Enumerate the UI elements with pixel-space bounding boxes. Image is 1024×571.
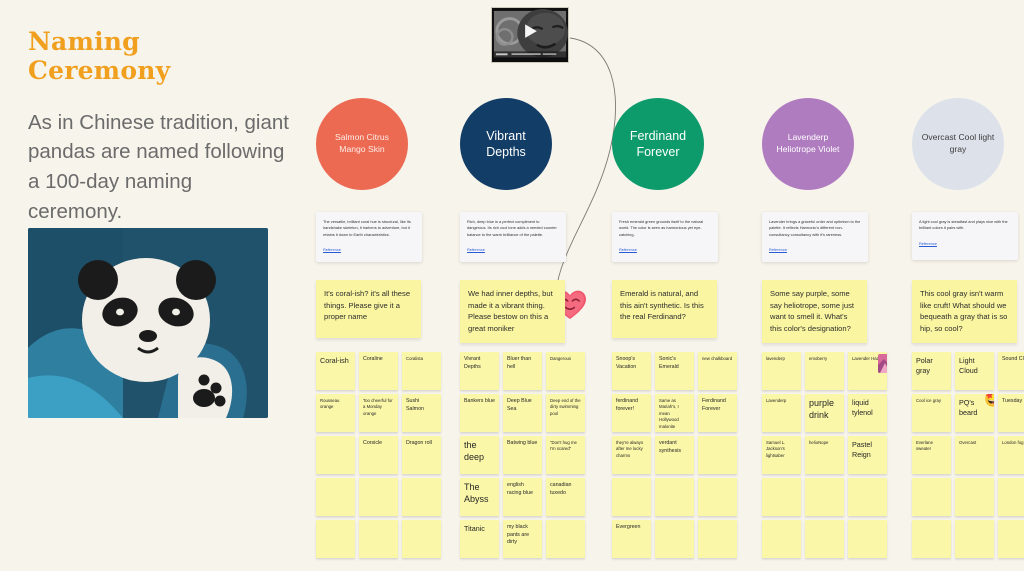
sticky-note-label: Coral-ish	[320, 356, 351, 366]
panda-photo[interactable]	[28, 228, 268, 418]
sticky-note[interactable]: Cool ice gray	[912, 394, 951, 432]
sticky-note[interactable]: London fog	[998, 436, 1024, 474]
sticky-note[interactable]	[998, 478, 1024, 516]
sticky-note[interactable]: my black pants are dirty	[503, 520, 542, 558]
sticky-note[interactable]: Too cheerful for a Monday orange	[359, 394, 398, 432]
reference-card-salmon[interactable]: The versatile, brilliant coral hue is st…	[316, 212, 422, 262]
sticky-note-label: Coralista	[406, 356, 437, 362]
sticky-note-label: Pastel Reign	[852, 440, 883, 459]
sticky-note[interactable]	[955, 520, 994, 558]
prompt-note-ferdinand-forever[interactable]: Emerald is natural, and this ain't synth…	[612, 280, 717, 338]
reference-card-overcast[interactable]: A light cool gray is steadfast and plays…	[912, 212, 1018, 260]
sticky-note-label: Cool ice gray	[916, 398, 947, 404]
sticky-note-label: "Don't hug me I'm scared"	[550, 440, 581, 453]
sticky-note-label: Rousseau orange	[320, 398, 351, 411]
sticky-note[interactable]: lavenderp	[762, 352, 801, 390]
sticky-note-label: London fog	[1002, 440, 1024, 446]
sticky-note[interactable]: ferdinand forever!	[612, 394, 651, 432]
video-thumbnail[interactable]	[491, 7, 569, 63]
sticky-note[interactable]	[912, 478, 951, 516]
color-swatch-salmon[interactable]: Salmon Citrus Mango Skin	[316, 98, 408, 190]
prompt-note-salmon[interactable]: It's coral-ish? it's all these things. P…	[316, 280, 421, 338]
sticky-grid-salmon: Coral-ishCoralineCoralistaRousseau orang…	[316, 352, 444, 558]
sticky-note[interactable]: Overcast	[955, 436, 994, 474]
sticky-note[interactable]: Samuel L. Jackson's lightsaber	[762, 436, 801, 474]
sticky-note-label: my black pants are dirty	[507, 524, 538, 547]
sticky-note[interactable]: they're always after me lucky charms	[612, 436, 651, 474]
sticky-note-label: Bankers blue	[464, 398, 495, 406]
intro-block: Naming Ceremony As in Chinese tradition,…	[28, 28, 290, 226]
sticky-note-label: Bluer than hell	[507, 356, 538, 371]
sticky-note[interactable]	[359, 478, 398, 516]
sticky-note[interactable]: Deep Blue Sea	[503, 394, 542, 432]
sticky-note[interactable]	[402, 478, 441, 516]
sticky-grid-overcast: Polar grayLight CloudSound CloudCool ice…	[912, 352, 1024, 558]
sticky-note[interactable]: Vivrant Depths	[460, 352, 499, 390]
sticky-note[interactable]: Light Cloud	[955, 352, 994, 390]
sticky-note[interactable]	[316, 436, 355, 474]
prompt-note-lavenderp[interactable]: Some say purple, some say heliotrope, so…	[762, 280, 867, 343]
reference-link[interactable]: Reference	[769, 247, 787, 252]
sticky-note-label: emoberry	[809, 356, 840, 362]
sticky-note-label: Tuesday	[1002, 398, 1024, 406]
sticky-note-label: Deep Blue Sea	[507, 398, 538, 413]
sticky-note-label: The Abyss	[464, 482, 495, 505]
sticky-note-label: verdant synthesis	[659, 440, 690, 455]
reference-link[interactable]: Reference	[467, 247, 485, 252]
sticky-note[interactable]: Corsicle	[359, 436, 398, 474]
sticky-note[interactable]: Deep end of the dirty swimming pool	[546, 394, 585, 432]
sticky-note[interactable]: emoberry	[805, 352, 844, 390]
sticky-note[interactable]	[359, 520, 398, 558]
sticky-note[interactable]	[698, 478, 737, 516]
sticky-note-label: Vivrant Depths	[464, 356, 495, 371]
reference-card-lavenderp[interactable]: Lavender brings a graceful order and opt…	[762, 212, 868, 262]
sticky-note-label: Polar gray	[916, 356, 947, 375]
sticky-note[interactable]: PQ's beard🤩	[955, 394, 994, 432]
sticky-note[interactable]: Polar gray	[912, 352, 951, 390]
color-swatch-ferdinand-forever[interactable]: Ferdinand Forever	[612, 98, 704, 190]
reference-card-ferdinand-forever[interactable]: Fresh emerald green grounds itself to th…	[612, 212, 718, 262]
sticky-note[interactable]: Everlane sweater	[912, 436, 951, 474]
sticky-note-label: Sound Cloud	[1002, 356, 1024, 364]
sticky-note[interactable]	[848, 520, 887, 558]
sticky-note[interactable]: Coral-ish	[316, 352, 355, 390]
reference-card-text: Lavender brings a graceful order and opt…	[769, 219, 861, 238]
sticky-note[interactable]	[698, 520, 737, 558]
sticky-note-label: lavenderp	[766, 356, 797, 362]
sticky-note[interactable]: Batwing blue	[503, 436, 542, 474]
sticky-note-label: Corsicle	[363, 440, 394, 448]
sticky-note[interactable]: Bankers blue	[460, 394, 499, 432]
sticky-note[interactable]	[762, 478, 801, 516]
sticky-note[interactable]: canadian tuxedo	[546, 478, 585, 516]
color-swatch-lavenderp[interactable]: Lavenderp Heliotrope Violet	[762, 98, 854, 190]
sticky-note-label: canadian tuxedo	[550, 482, 581, 497]
sticky-note-label: they're always after me lucky charms	[616, 440, 647, 459]
sticky-note[interactable]: Bluer than hell	[503, 352, 542, 390]
prompt-note-vibrant-depths[interactable]: We had inner depths, but made it a vibra…	[460, 280, 565, 343]
sticky-note[interactable]: Snoop's Vacation	[612, 352, 651, 390]
color-swatch-label: Salmon Citrus Mango Skin	[322, 132, 402, 155]
sticky-note[interactable]: helioNope	[805, 436, 844, 474]
sticky-note[interactable]: Same as Mariah's, I mean Hollywood malon…	[655, 394, 694, 432]
sticky-note[interactable]: liquid tylenol	[848, 394, 887, 432]
sticky-note[interactable]	[316, 520, 355, 558]
sticky-note[interactable]: Dragon roll	[402, 436, 441, 474]
sticky-note-label: helioNope	[809, 440, 840, 446]
sticky-note[interactable]: purple drink	[805, 394, 844, 432]
reference-link[interactable]: Reference	[619, 247, 637, 252]
sticky-note-label: Everlane sweater	[916, 440, 947, 453]
sticky-note[interactable]: the deep	[460, 436, 499, 474]
sticky-note[interactable]	[698, 436, 737, 474]
sticky-note[interactable]: new chalkboard	[698, 352, 737, 390]
reference-card-vibrant-depths[interactable]: Rich, deep blue is a perfect compliment …	[460, 212, 566, 262]
sticky-grid-vibrant-depths: Vivrant DepthsBluer than hellDangerousBa…	[460, 352, 588, 558]
sticky-note-label: Coraline	[363, 356, 394, 364]
sticky-note-label: Evergreen	[616, 524, 647, 532]
sticky-note-label: Sushi Salmon	[406, 398, 437, 413]
sticky-note-label: purple drink	[809, 398, 840, 421]
sticky-note-label: liquid tylenol	[852, 398, 883, 417]
sticky-note-label: Samuel L. Jackson's lightsaber	[766, 440, 797, 459]
sticky-note-label: Same as Mariah's, I mean Hollywood malon…	[659, 398, 690, 430]
reference-card-text: A light cool gray is steadfast and plays…	[919, 219, 1011, 232]
page-subtitle: As in Chinese tradition, giant pandas ar…	[28, 108, 290, 227]
sticky-note[interactable]: Lavender Haze	[848, 352, 887, 390]
sticky-note[interactable]	[805, 520, 844, 558]
sticky-note[interactable]: Tuesday	[998, 394, 1024, 432]
sticky-grid-lavenderp: lavenderpemoberryLavender HazeLavenderpp…	[762, 352, 890, 558]
sticky-note-label: ferdinand forever!	[616, 398, 647, 413]
photo-sticker-icon[interactable]	[878, 354, 887, 373]
whiteboard-canvas[interactable]: Naming Ceremony As in Chinese tradition,…	[0, 0, 1024, 571]
sticky-note-label: Dangerous	[550, 356, 581, 362]
color-swatch-label: Overcast Cool light gray	[918, 132, 998, 155]
sticky-note[interactable]	[655, 520, 694, 558]
sticky-note-label: Sonic's Emerald	[659, 356, 690, 371]
sticky-note[interactable]: Rousseau orange	[316, 394, 355, 432]
sticky-note[interactable]: The Abyss	[460, 478, 499, 516]
sticky-note[interactable]	[998, 520, 1024, 558]
sticky-note[interactable]	[612, 478, 651, 516]
color-swatch-label: Lavenderp Heliotrope Violet	[768, 132, 848, 155]
sticky-note-label: Light Cloud	[959, 356, 990, 375]
sticky-note-label: Lavenderp	[766, 398, 797, 404]
sticky-note-label: Overcast	[959, 440, 990, 446]
sticky-note-label: Titanic	[464, 524, 495, 534]
sticky-note-label: Too cheerful for a Monday orange	[363, 398, 394, 417]
sticky-note-label: Batwing blue	[507, 440, 538, 448]
color-swatch-label: Vibrant Depths	[466, 128, 546, 161]
sticky-note-label: new chalkboard	[702, 356, 733, 362]
sticky-note[interactable]: Sound Cloud	[998, 352, 1024, 390]
reference-link[interactable]: Reference	[323, 247, 341, 252]
color-swatch-label: Ferdinand Forever	[618, 128, 698, 161]
sticky-note[interactable]	[546, 520, 585, 558]
sticky-note[interactable]	[848, 478, 887, 516]
sticky-note[interactable]: Ferdinand Forever	[698, 394, 737, 432]
sticky-note[interactable]: Sonic's Emerald	[655, 352, 694, 390]
sticky-note[interactable]	[655, 478, 694, 516]
sticky-note-label: the deep	[464, 440, 495, 463]
sticky-note[interactable]: Sushi Salmon	[402, 394, 441, 432]
sticky-note-label: Snoop's Vacation	[616, 356, 647, 371]
sticky-note[interactable]: "Don't hug me I'm scared"	[546, 436, 585, 474]
sticky-note-label: Ferdinand Forever	[702, 398, 733, 413]
reference-card-text: Fresh emerald green grounds itself to th…	[619, 219, 711, 238]
sticky-note[interactable]	[762, 520, 801, 558]
sticky-note-label: Dragon roll	[406, 440, 437, 448]
sticky-note[interactable]	[316, 478, 355, 516]
sticky-note[interactable]: Titanic	[460, 520, 499, 558]
sticky-note[interactable]	[912, 520, 951, 558]
reference-card-text: The versatile, brilliant coral hue is st…	[323, 219, 415, 238]
sticky-note[interactable]: Coraline	[359, 352, 398, 390]
sticky-note[interactable]	[955, 478, 994, 516]
reference-link[interactable]: Reference	[919, 241, 937, 246]
sticky-note[interactable]: Dangerous	[546, 352, 585, 390]
sticky-note-label: english racing blue	[507, 482, 538, 497]
page-title: Naming Ceremony	[28, 28, 290, 86]
sticky-note[interactable]: Evergreen	[612, 520, 651, 558]
reference-card-text: Rich, deep blue is a perfect compliment …	[467, 219, 559, 238]
sticky-note[interactable]: Pastel Reign	[848, 436, 887, 474]
sticky-grid-ferdinand-forever: Snoop's VacationSonic's Emeraldnew chalk…	[612, 352, 740, 558]
sticky-note[interactable]: Coralista	[402, 352, 441, 390]
sticky-note[interactable]: english racing blue	[503, 478, 542, 516]
sticky-note[interactable]	[402, 520, 441, 558]
sticky-note[interactable]	[805, 478, 844, 516]
emoji-sticker-icon[interactable]: 🤩	[984, 394, 994, 409]
prompt-note-overcast[interactable]: This cool gray isn't warm like cruft! Wh…	[912, 280, 1017, 343]
sticky-note-label: Deep end of the dirty swimming pool	[550, 398, 581, 417]
color-swatch-vibrant-depths[interactable]: Vibrant Depths	[460, 98, 552, 190]
sticky-note[interactable]: verdant synthesis	[655, 436, 694, 474]
color-swatch-overcast[interactable]: Overcast Cool light gray	[912, 98, 1004, 190]
sticky-note[interactable]: Lavenderp	[762, 394, 801, 432]
